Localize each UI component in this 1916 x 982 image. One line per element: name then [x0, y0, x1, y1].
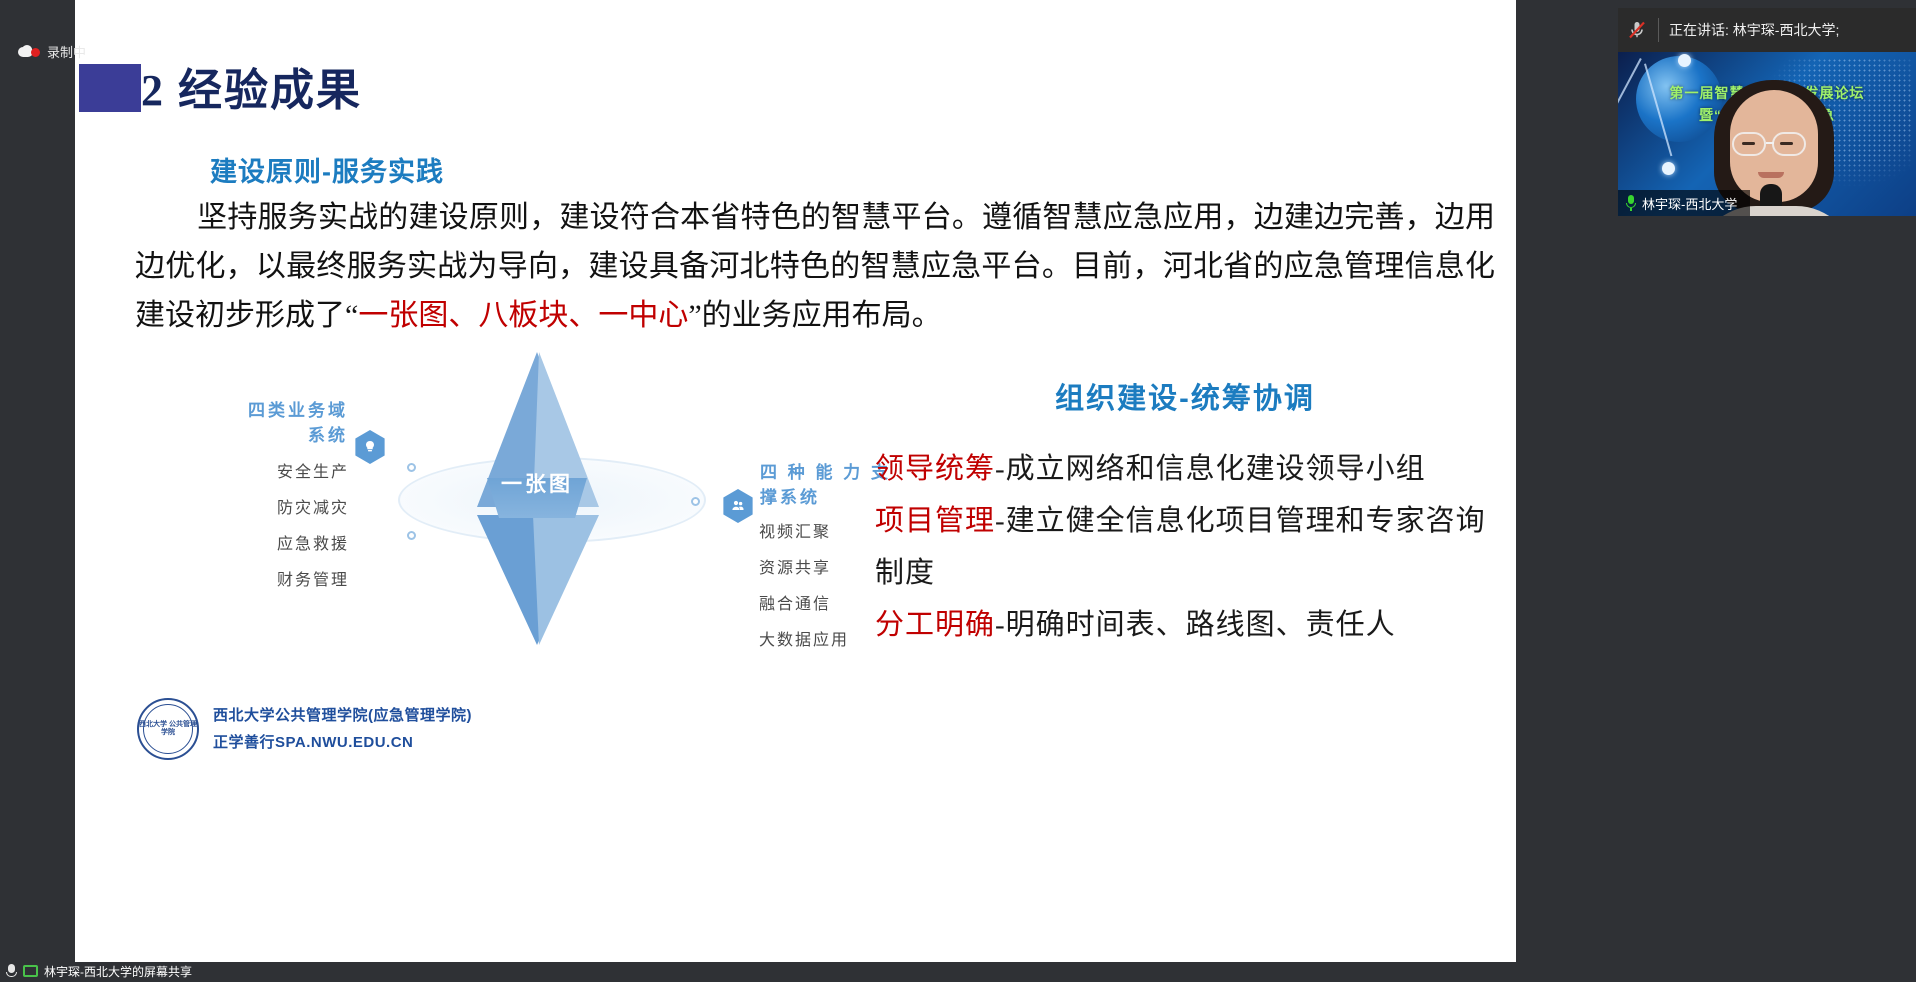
- diagram-left-title-line2: 系统: [223, 423, 348, 448]
- shared-slide: 2 经验成果 建设原则-服务实践 坚持服务实战的建设原则，建设符合本省特色的智慧…: [75, 0, 1516, 962]
- section-heading-organization: 组织建设-统筹协调: [875, 375, 1495, 417]
- screen-share-icon[interactable]: [23, 965, 38, 977]
- organization-item: 领导统筹-成立网络和信息化建设领导小组: [875, 443, 1495, 495]
- paragraph-text-tail: ”的业务应用布局。: [688, 299, 941, 332]
- people-hexagon-icon: [721, 489, 755, 523]
- active-speaker-label: 正在讲话: 林宇琛-西北大学;: [1669, 20, 1839, 40]
- screen-share-label: 林宇琛-西北大学的屏幕共享: [44, 963, 192, 980]
- footer-line-1: 西北大学公共管理学院(应急管理学院): [213, 702, 472, 729]
- diagram-arrow-down-highlight: [533, 515, 599, 645]
- meeting-window: 录制中 2 经验成果 建设原则-服务实践 坚持服务实战的建设原则，建设符合本省特…: [0, 0, 1916, 982]
- orbit-dot: [1662, 162, 1675, 175]
- slide-title-row: 2 经验成果: [75, 64, 1516, 118]
- organization-item-text: -明确时间表、路线图、责任人: [995, 609, 1396, 641]
- diagram-left-title: 四类业务域 系统: [223, 398, 348, 448]
- microphone-muted-icon: [1626, 19, 1648, 41]
- nwu-logo-text: 西北大学 公共管理学院: [139, 721, 197, 737]
- recording-label: 录制中: [47, 42, 86, 61]
- list-item: 财务管理: [221, 566, 349, 590]
- participant-name: 林宇琛-西北大学: [1642, 194, 1737, 213]
- footer-text: 西北大学公共管理学院(应急管理学院) 正学善行SPA.NWU.EDU.CN: [213, 702, 472, 756]
- list-item: 应急救援: [221, 530, 349, 554]
- microphone-on-icon: [1626, 195, 1636, 211]
- diagram-left-items: 安全生产 防灾减灾 应急救援 财务管理: [221, 458, 349, 602]
- microphone-icon[interactable]: [6, 964, 17, 979]
- video-panel[interactable]: 正在讲话: 林宇琛-西北大学; 第一届智慧应急产业发展论坛 暨“大安全”智慧应急…: [1618, 8, 1916, 216]
- slide-footer: 西北大学 公共管理学院 西北大学公共管理学院(应急管理学院) 正学善行SPA.N…: [137, 698, 472, 760]
- diagram-node-bottom-left: [407, 531, 416, 540]
- video-panel-header: 正在讲话: 林宇琛-西北大学;: [1618, 8, 1916, 52]
- list-item: 防灾减灾: [221, 494, 349, 518]
- diagram-left-title-line1: 四类业务域: [223, 398, 348, 423]
- list-item: 安全生产: [221, 458, 349, 482]
- organization-item-keyword: 分工明确: [875, 609, 995, 641]
- participant-name-bar: 林宇琛-西北大学: [1618, 190, 1750, 216]
- header-divider: [1658, 18, 1659, 42]
- organization-item-text: -成立网络和信息化建设领导小组: [995, 453, 1426, 485]
- taskbar: 林宇琛-西北大学的屏幕共享: [0, 960, 1916, 982]
- page-title: 2 经验成果: [141, 54, 362, 118]
- diagram-node-top-left: [407, 463, 416, 472]
- organization-item-keyword: 项目管理: [875, 505, 995, 537]
- video-stage: 第一届智慧应急产业发展论坛 暨“大安全”智慧应急 创新联盟大会 林宇琛-西北大学: [1618, 52, 1916, 216]
- recording-cloud-icon: [18, 45, 40, 59]
- footer-line-2: 正学善行SPA.NWU.EDU.CN: [213, 729, 472, 756]
- title-accent-square: [79, 64, 141, 112]
- section-heading-principles: 建设原则-服务实践: [210, 150, 444, 189]
- organization-item: 分工明确-明确时间表、路线图、责任人: [875, 599, 1495, 651]
- organization-item: 项目管理-建立健全信息化项目管理和专家咨询制度: [875, 495, 1495, 599]
- idea-head-hexagon-icon: [353, 430, 387, 464]
- platform-diagram: 一张图 四类业务域 系统 安全生产 防灾减灾 应急救援 财务管理 四 种 能 力…: [135, 360, 775, 660]
- nwu-logo: 西北大学 公共管理学院: [137, 698, 199, 760]
- diagram-node-right: [691, 497, 700, 506]
- diagram-center-label: 一张图: [457, 468, 617, 498]
- organization-section: 组织建设-统筹协调 领导统筹-成立网络和信息化建设领导小组 项目管理-建立健全信…: [875, 375, 1495, 651]
- recording-indicator: 录制中: [18, 42, 86, 61]
- orbit-dot: [1678, 54, 1691, 67]
- paragraph-highlight: 一张图、八板块、一中心: [358, 299, 688, 332]
- organization-item-keyword: 领导统筹: [875, 453, 995, 485]
- principles-paragraph: 坚持服务实战的建设原则，建设符合本省特色的智慧平台。遵循智慧应急应用，边建边完善…: [135, 193, 1495, 340]
